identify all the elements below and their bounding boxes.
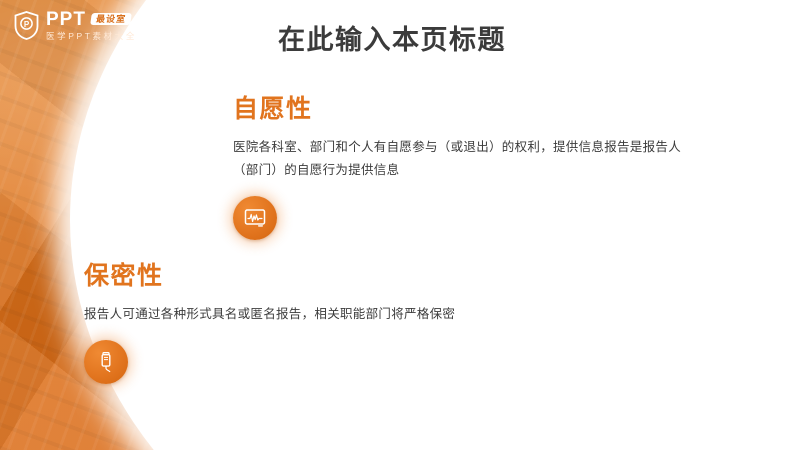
- brand-logo[interactable]: P PPT 最设室 医学PPT素材大全: [14, 8, 137, 42]
- iv-drip-icon[interactable]: [84, 340, 128, 384]
- block-heading: 自愿性: [233, 96, 703, 124]
- content-block-voluntary: 自愿性 医院各科室、部门和个人有自愿参与（或退出）的权利，提供信息报告是报告人（…: [233, 96, 703, 240]
- ecg-monitor-icon[interactable]: [233, 196, 277, 240]
- block-body-text: 医院各科室、部门和个人有自愿参与（或退出）的权利，提供信息报告是报告人（部门）的…: [233, 136, 703, 182]
- block-body-text: 报告人可通过各种形式具名或匿名报告，相关职能部门将严格保密: [84, 303, 584, 326]
- site-watermark: w w w . p p t e r . c o m: [619, 431, 786, 441]
- logo-wordmark-row: PPT 最设室: [46, 10, 137, 29]
- svg-text:P: P: [24, 20, 30, 29]
- shield-icon: P: [14, 11, 39, 40]
- content-block-confidentiality: 保密性 报告人可通过各种形式具名或匿名报告，相关职能部门将严格保密: [84, 263, 584, 384]
- logo-tagline: 医学PPT素材大全: [46, 32, 137, 41]
- slide-root: P PPT 最设室 医学PPT素材大全 在此输入本页标题 自愿性 医院各科室、部…: [0, 0, 800, 450]
- logo-badge: 最设室: [90, 13, 132, 25]
- block-heading: 保密性: [84, 263, 584, 291]
- page-title: 在此输入本页标题: [278, 18, 506, 57]
- logo-text: PPT 最设室 医学PPT素材大全: [46, 10, 137, 41]
- logo-wordmark: PPT: [46, 10, 86, 29]
